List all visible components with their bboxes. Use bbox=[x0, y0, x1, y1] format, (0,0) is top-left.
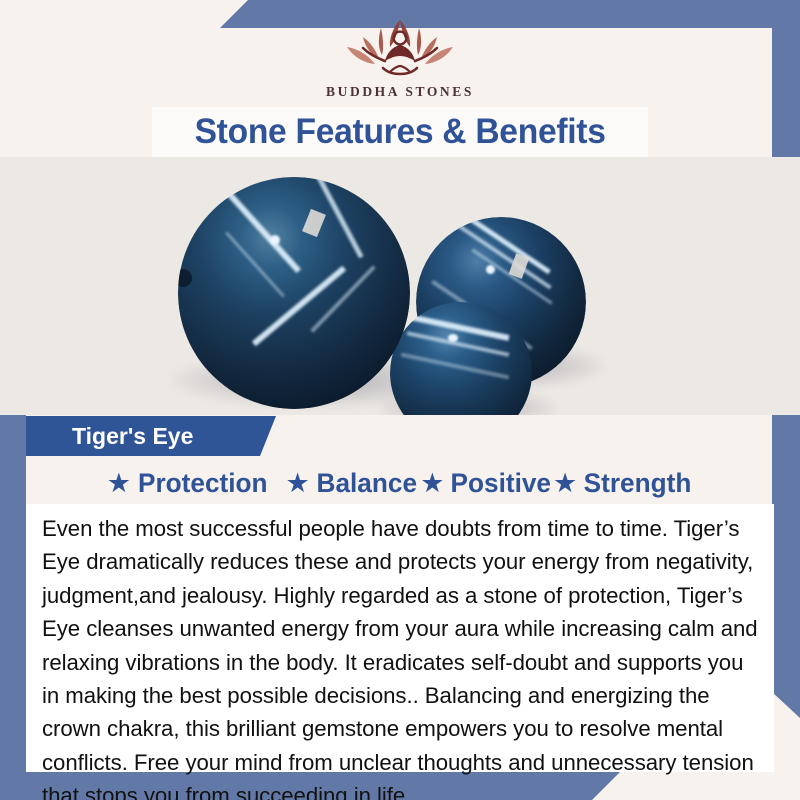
benefit-item-balance: ★ Balance bbox=[285, 468, 418, 499]
benefits-list: ★ Protection ★ Balance ★ Positive ★ Stre… bbox=[26, 462, 774, 504]
benefit-item-protection: ★ Protection bbox=[107, 468, 270, 499]
brand-logo: BUDDHA STONES bbox=[0, 14, 800, 104]
description-text: Even the most successful people have dou… bbox=[42, 512, 758, 800]
star-icon: ★ bbox=[107, 470, 131, 497]
infographic-page: BUDDHA STONES Stone Features & Benefits bbox=[0, 0, 800, 800]
description-panel: Even the most successful people have dou… bbox=[26, 504, 774, 772]
product-photo bbox=[0, 157, 800, 415]
star-icon: ★ bbox=[420, 470, 444, 497]
product-name: Tiger's Eye bbox=[72, 423, 193, 450]
benefit-item-strength: ★ Strength bbox=[553, 468, 693, 499]
product-name-banner: Tiger's Eye bbox=[26, 416, 276, 456]
benefit-label: Positive bbox=[451, 468, 551, 499]
benefit-label: Strength bbox=[584, 468, 692, 499]
benefit-label: Balance bbox=[316, 468, 416, 499]
brand-name: BUDDHA STONES bbox=[326, 84, 474, 100]
tigers-eye-sphere-large bbox=[178, 177, 410, 409]
star-icon: ★ bbox=[285, 470, 309, 497]
page-title: Stone Features & Benefits bbox=[194, 112, 605, 152]
star-icon: ★ bbox=[553, 470, 577, 497]
page-title-band: Stone Features & Benefits bbox=[152, 107, 648, 157]
benefit-item-positive: ★ Positive bbox=[420, 468, 553, 499]
lotus-meditation-icon bbox=[333, 14, 467, 80]
benefit-label: Protection bbox=[138, 468, 268, 499]
